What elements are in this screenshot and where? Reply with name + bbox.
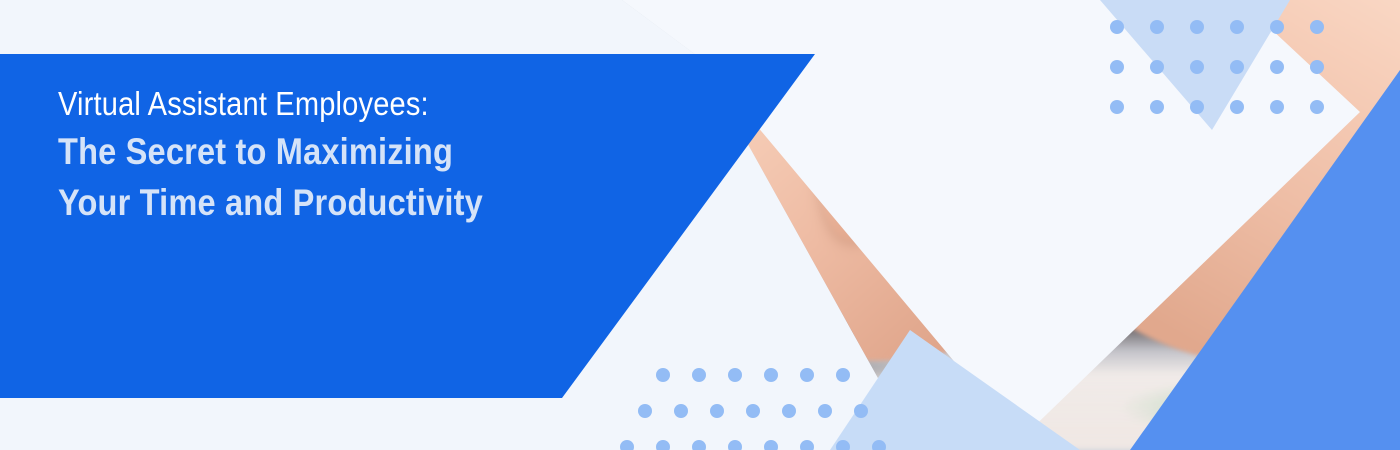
decorative-dot bbox=[1310, 60, 1324, 74]
decorative-dot bbox=[782, 404, 796, 418]
decorative-dot bbox=[1230, 100, 1244, 114]
headline-line-1: Virtual Assistant Employees: bbox=[58, 82, 604, 126]
decorative-dot bbox=[1230, 20, 1244, 34]
headline-line-2: The Secret to Maximizing bbox=[58, 126, 604, 178]
decorative-dot bbox=[1150, 60, 1164, 74]
decorative-dot bbox=[800, 368, 814, 382]
decorative-dot bbox=[1190, 60, 1204, 74]
decorative-dot bbox=[1310, 20, 1324, 34]
decorative-dot bbox=[1310, 100, 1324, 114]
dot-grid-bottom bbox=[620, 368, 920, 450]
decorative-dot bbox=[620, 440, 634, 450]
decorative-dot bbox=[656, 368, 670, 382]
decorative-dot bbox=[836, 368, 850, 382]
decorative-dot bbox=[674, 404, 688, 418]
decorative-dot bbox=[1150, 20, 1164, 34]
decorative-dot bbox=[692, 368, 706, 382]
decorative-dot bbox=[836, 440, 850, 450]
decorative-dot bbox=[1190, 100, 1204, 114]
decorative-dot bbox=[710, 404, 724, 418]
decorative-dot bbox=[746, 404, 760, 418]
decorative-dot bbox=[656, 440, 670, 450]
decorative-dot bbox=[1270, 100, 1284, 114]
decorative-dot bbox=[1270, 20, 1284, 34]
decorative-dot bbox=[1150, 100, 1164, 114]
decorative-dot bbox=[1110, 100, 1124, 114]
decorative-dot bbox=[728, 368, 742, 382]
decorative-dot bbox=[872, 440, 886, 450]
headline-panel: Virtual Assistant Employees: The Secret … bbox=[0, 54, 820, 398]
decorative-dot bbox=[1270, 60, 1284, 74]
decorative-dot bbox=[854, 404, 868, 418]
decorative-dot bbox=[818, 404, 832, 418]
decorative-dot bbox=[1110, 20, 1124, 34]
headline-block: Virtual Assistant Employees: The Secret … bbox=[58, 82, 678, 229]
promo-banner: 123456789101112 246810121416182022242628… bbox=[0, 0, 1400, 450]
decorative-dot bbox=[1110, 60, 1124, 74]
dot-grid-top bbox=[1110, 20, 1350, 120]
headline-line-3: Your Time and Productivity bbox=[58, 177, 604, 229]
decorative-dot bbox=[800, 440, 814, 450]
decorative-dot bbox=[1230, 60, 1244, 74]
decorative-dot bbox=[728, 440, 742, 450]
decorative-dot bbox=[764, 368, 778, 382]
decorative-dot bbox=[638, 404, 652, 418]
decorative-dot bbox=[692, 440, 706, 450]
decorative-dot bbox=[1190, 20, 1204, 34]
decorative-dot bbox=[764, 440, 778, 450]
